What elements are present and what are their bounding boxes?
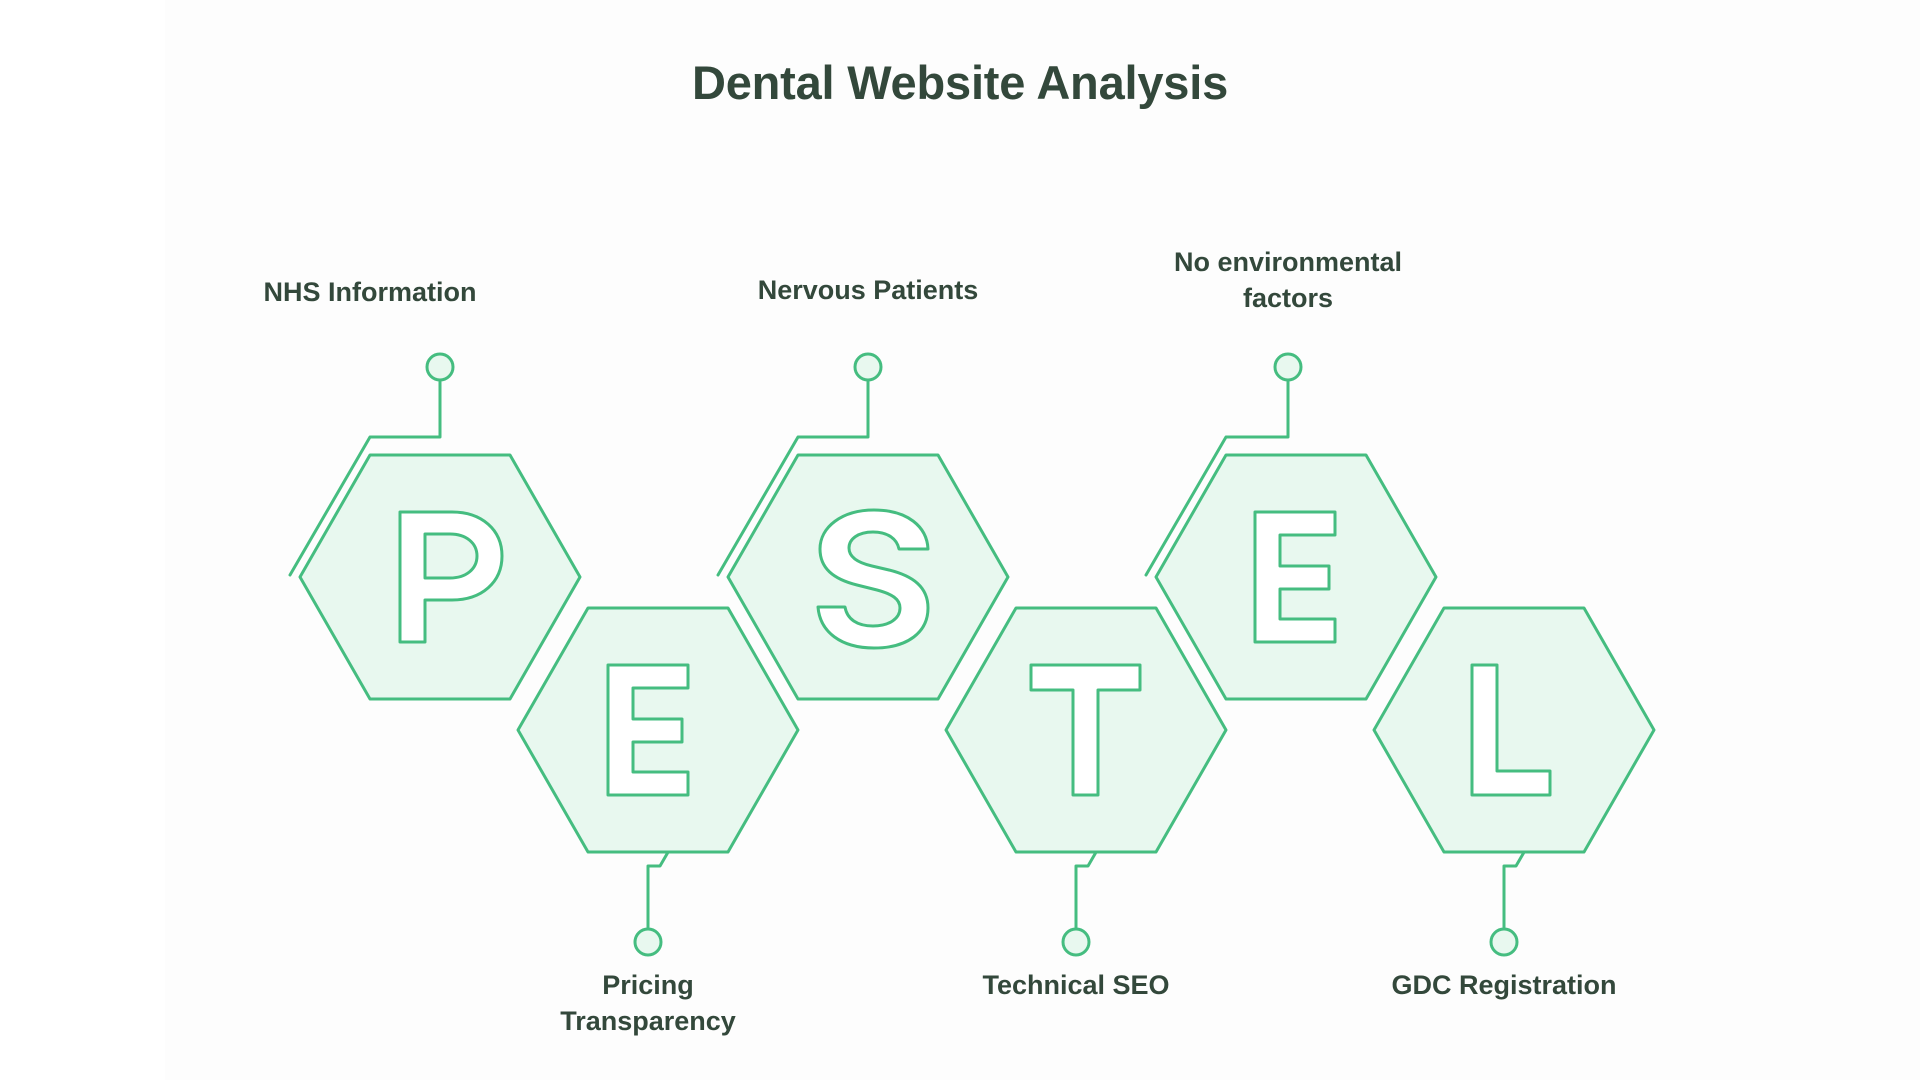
connector-dot-s (855, 354, 881, 380)
connector-dot-p (427, 354, 453, 380)
letter-glyph-e1 (608, 665, 688, 795)
node-label-e2: No environmental factors (1088, 245, 1488, 316)
pestel-node-s[interactable] (718, 354, 1008, 699)
letter-glyph-e2 (1255, 512, 1335, 642)
connector-dot-e1 (635, 929, 661, 955)
node-label-p: NHS Information (170, 275, 570, 311)
connector-dot-e2 (1275, 354, 1301, 380)
pestel-node-e1[interactable] (518, 608, 798, 955)
hexagon-l[interactable] (1374, 608, 1654, 852)
connector-dot-l (1491, 929, 1517, 955)
pestel-node-p[interactable] (290, 354, 580, 699)
node-label-l: GDC Registration (1304, 968, 1704, 1004)
pestel-hexagon-diagram (0, 0, 1920, 1080)
node-label-s: Nervous Patients (668, 273, 1068, 309)
pestel-node-t[interactable] (946, 608, 1226, 955)
node-label-t: Technical SEO (876, 968, 1276, 1004)
connector-dot-t (1063, 929, 1089, 955)
pestel-node-l[interactable] (1374, 608, 1654, 955)
pestel-node-e2[interactable] (1146, 354, 1436, 699)
slide-canvas: Dental Website Analysis (0, 0, 1920, 1080)
node-label-e1: Pricing Transparency (448, 968, 848, 1039)
